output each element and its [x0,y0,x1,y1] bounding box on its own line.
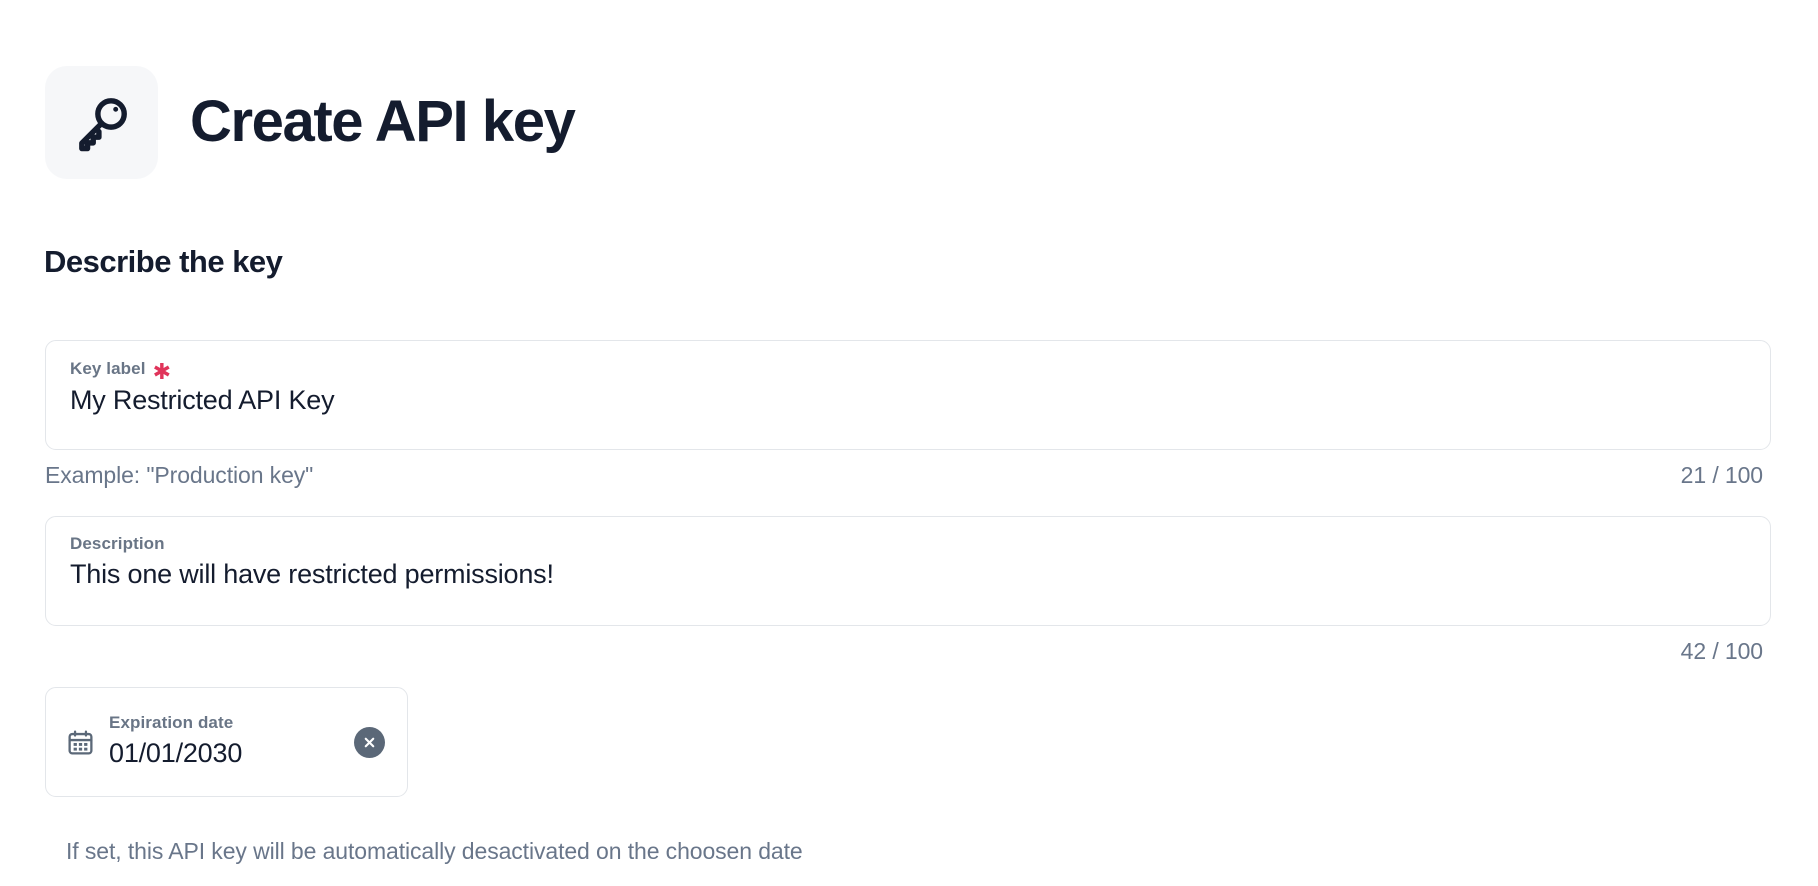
key-icon-tile [45,66,158,179]
expiration-date-input[interactable]: 01/01/2030 [109,737,340,771]
required-asterisk-icon: ✱ [153,361,172,383]
description-character-counter: 42 / 100 [1681,638,1771,665]
key-label-field[interactable]: Key label ✱ My Restricted API Key [45,340,1771,450]
section-title-describe-the-key: Describe the key [44,244,282,280]
description-input[interactable]: This one will have restricted permission… [70,558,1746,592]
expiration-date-texts: Expiration date 01/01/2030 [109,713,340,771]
create-api-key-page: Create API key Describe the key Key labe… [0,0,1818,886]
description-field-label: Description [70,534,1746,554]
key-label-text: Key label [70,359,146,379]
key-label-helper-row: Example: "Production key" 21 / 100 [45,462,1771,489]
expiration-date-helper-text: If set, this API key will be automatical… [66,838,803,865]
clear-expiration-date-button[interactable] [354,727,385,758]
key-icon [71,92,133,154]
key-label-input[interactable]: My Restricted API Key [70,384,1746,418]
page-header: Create API key [45,66,574,179]
calendar-icon [66,728,95,757]
description-label-text: Description [70,534,165,554]
expiration-date-field[interactable]: Expiration date 01/01/2030 [45,687,408,797]
key-label-field-label: Key label ✱ [70,358,1746,380]
description-helper-row: 42 / 100 [45,638,1771,665]
expiration-date-label: Expiration date [109,713,340,733]
key-label-helper-text: Example: "Production key" [45,462,313,489]
page-title: Create API key [190,92,574,153]
key-label-character-counter: 21 / 100 [1681,462,1771,489]
close-circle-icon [362,735,377,750]
description-field[interactable]: Description This one will have restricte… [45,516,1771,626]
